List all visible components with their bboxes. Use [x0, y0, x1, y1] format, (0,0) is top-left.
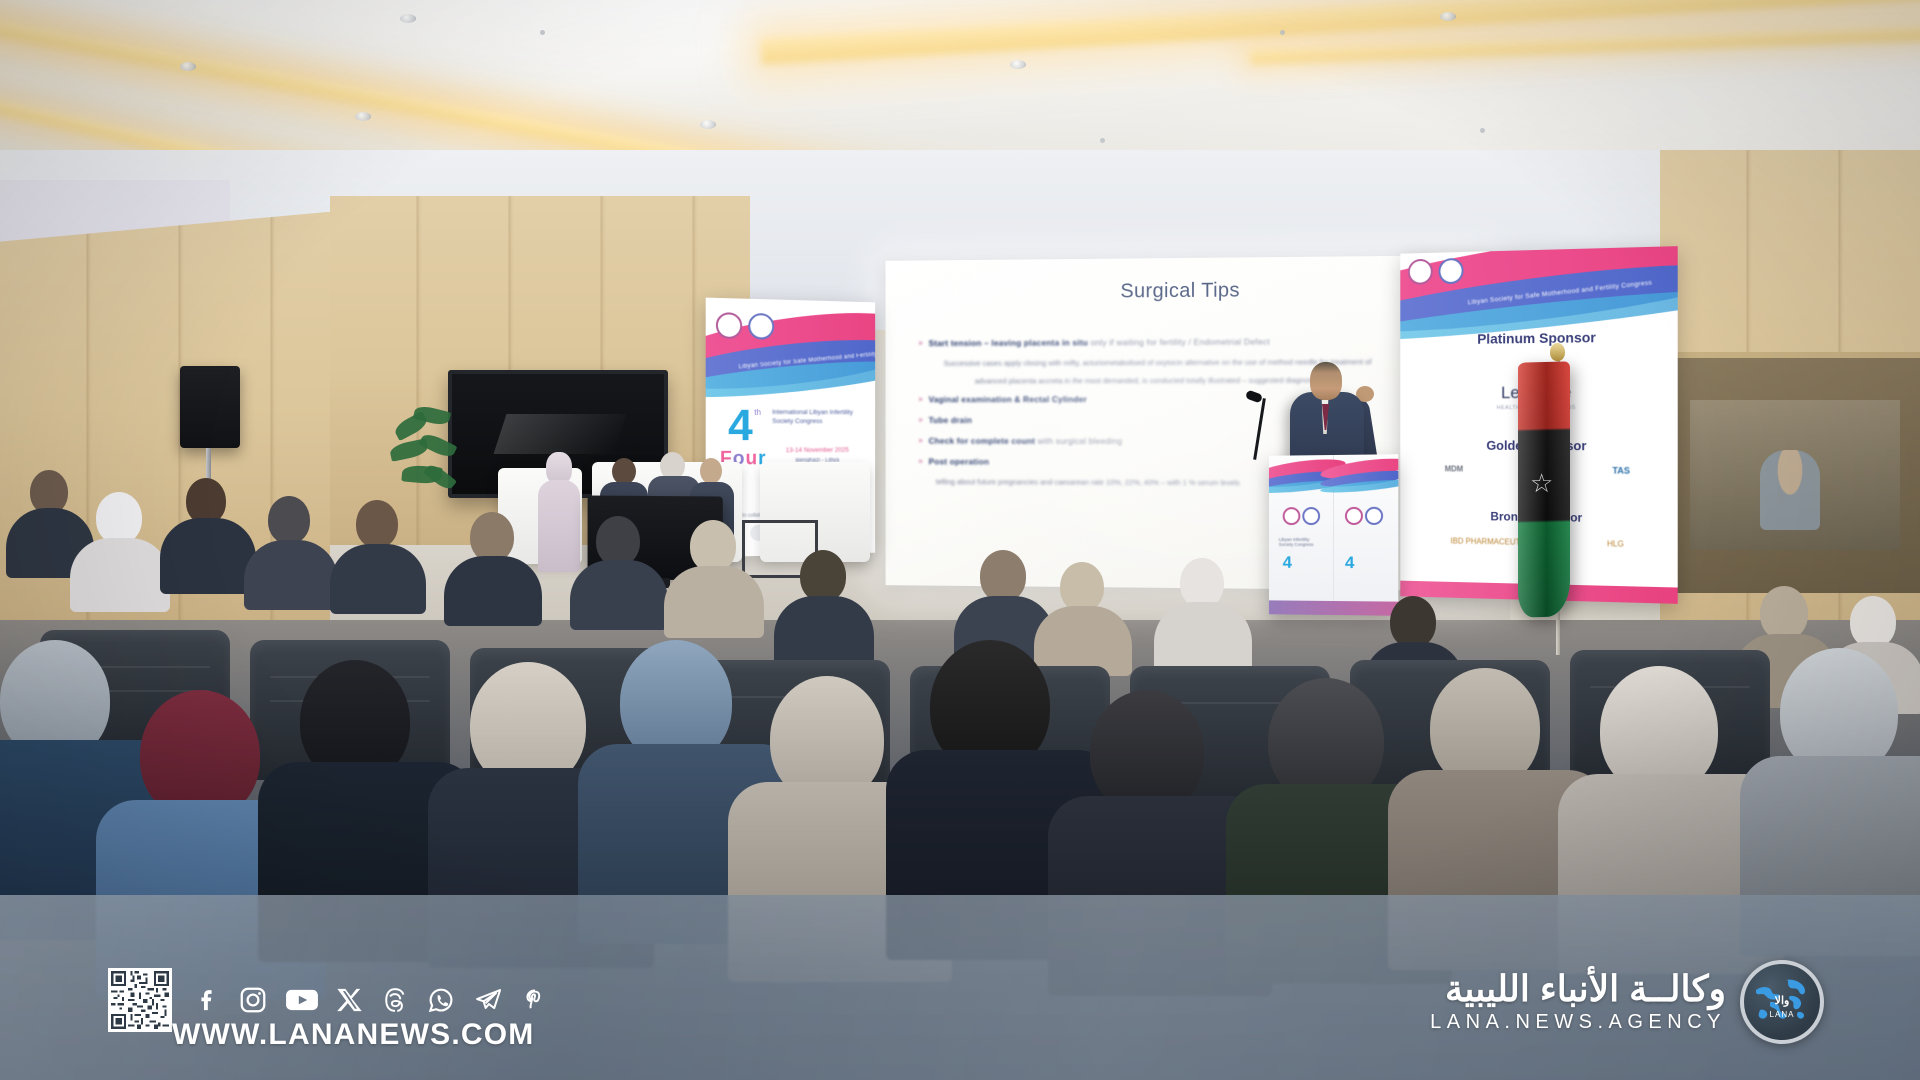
society-logo-icon [716, 312, 742, 339]
tv-glare [494, 414, 627, 454]
speaker-head [1310, 362, 1342, 400]
bullet-bold: Vaginal examination & Rectal Cylinder [929, 394, 1087, 404]
sponsor-logo-tas: TAS [1612, 465, 1630, 475]
downlight [700, 120, 716, 129]
bullet-rest: with surgical bleeding [1038, 436, 1123, 446]
instagram-icon[interactable] [238, 985, 268, 1015]
downlight [1010, 60, 1026, 69]
qr-code-icon [109, 969, 171, 1031]
flag-finial [1550, 343, 1565, 361]
whatsapp-icon[interactable] [426, 985, 456, 1015]
agency-name-english: LANA.NEWS.AGENCY [1430, 1011, 1726, 1034]
podium-caption: Libyan Infertility Society Congress [1279, 537, 1324, 547]
congress-number: 4 [728, 404, 753, 449]
telegram-icon[interactable] [473, 986, 505, 1014]
speaker-podium: Libyan Infertility Society Congress 4 4 [1269, 454, 1398, 616]
website-url[interactable]: WWW.LANANEWS.COM [172, 1018, 534, 1052]
society-logo-icon [1408, 259, 1433, 285]
congress-title: International Libyan Infertility Society… [772, 408, 862, 426]
slide-title: Surgical Tips [886, 277, 1485, 305]
downlight [355, 112, 371, 121]
bullet-marker: » [918, 337, 922, 349]
congress-logo-icon [748, 313, 774, 340]
logo-english-text: LANA [1744, 1010, 1820, 1019]
bullet-rest: only if waiting for fertility / Endometr… [1091, 337, 1270, 348]
congress-logo-icon [1438, 258, 1463, 284]
downlight [400, 14, 416, 23]
bullet-marker: » [918, 393, 922, 405]
lana-logo[interactable]: والا LANA [1740, 960, 1824, 1044]
agency-name-arabic: وكالــة الأنباء الليبية [1430, 970, 1726, 1008]
threads-icon[interactable] [381, 985, 409, 1015]
ceiling-dot [1100, 138, 1105, 143]
social-icons [194, 983, 548, 1017]
potted-plant [390, 408, 464, 518]
slide-subline: advanced placenta accreta in the most de… [975, 374, 1456, 386]
platinum-sponsor-label: Platinum Sponsor [1400, 328, 1677, 348]
congress-ordinal: th [754, 408, 761, 417]
slide-subline: Successive cases apply closing with mift… [944, 356, 1456, 369]
slide-bullet: » Vaginal examination & Rectal Cylinder [918, 393, 1456, 406]
congress-date: 13-14 November 2025 [768, 446, 865, 455]
youtube-icon[interactable] [285, 987, 319, 1013]
facebook-icon[interactable] [194, 983, 221, 1017]
logo-arabic-text: والا [1744, 994, 1820, 1007]
qr-code[interactable] [108, 968, 172, 1032]
bullet-marker: » [918, 455, 922, 467]
ceiling-dot [1280, 30, 1285, 35]
downlight [1440, 12, 1456, 21]
x-twitter-icon[interactable] [336, 986, 364, 1014]
person-in-niche [1760, 450, 1820, 530]
lana-right-branding: وكالــة الأنباء الليبية LANA.NEWS.AGENCY… [1430, 960, 1824, 1044]
pinterest-icon[interactable] [522, 984, 548, 1016]
bullet-marker: » [918, 414, 922, 426]
flag-shading [1518, 361, 1570, 617]
bullet-bold: Post operation [929, 457, 990, 467]
downlight [180, 62, 196, 71]
ceiling-dot [540, 30, 545, 35]
screenshot-root: Surgical Tips » Start tension – leaving … [0, 0, 1920, 1080]
bullet-bold: Check for complete count [929, 436, 1036, 446]
bullet-marker: » [918, 435, 922, 447]
bullet-bold: Tube drain [929, 415, 973, 425]
sponsor-logo-mdm: MDM [1445, 464, 1463, 473]
bullet-bold: Start tension – leaving placenta in situ [929, 337, 1088, 348]
slide-bullet: » Tube drain [918, 414, 1456, 426]
sponsor-logo-hlg: HLG [1607, 539, 1624, 548]
ceiling-dot [1480, 128, 1485, 133]
pa-speaker [180, 366, 240, 448]
slide-bullet: » Start tension – leaving placenta in si… [918, 335, 1456, 350]
podium-number: 4 [1283, 553, 1292, 573]
